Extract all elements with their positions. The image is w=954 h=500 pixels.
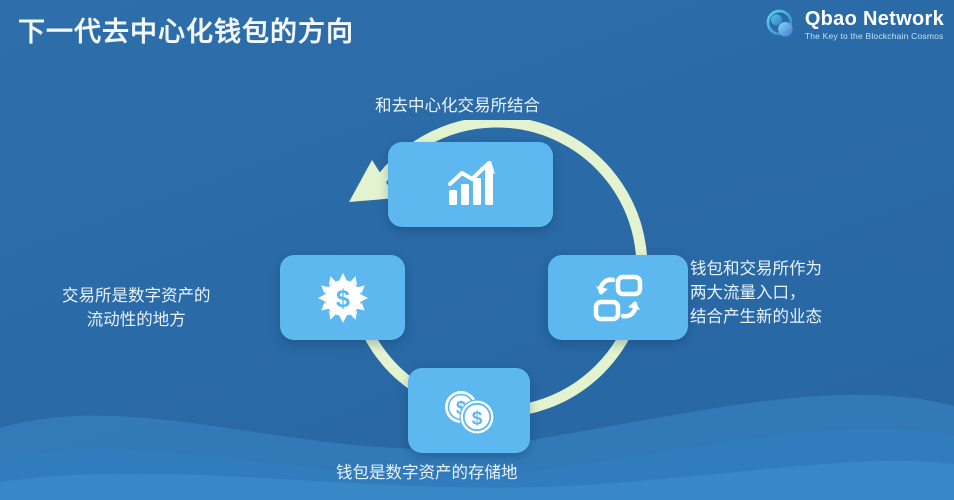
logo-name: Qbao Network: [805, 9, 944, 29]
qbao-circles-logo-icon: [765, 8, 799, 42]
svg-text:$: $: [336, 285, 350, 313]
cycle-node-left[interactable]: $: [280, 255, 405, 340]
caption-bottom: 钱包是数字资产的存储地: [336, 462, 518, 486]
exchange-swap-icon: [591, 274, 645, 322]
brand-logo: Qbao Network The Key to the Blockchain C…: [765, 8, 944, 42]
dollar-coins-icon: $ $: [441, 387, 497, 435]
slide-canvas: 下一代去中心化钱包的方向 Qbao Network The Key to the…: [0, 0, 954, 500]
page-title: 下一代去中心化钱包的方向: [18, 10, 354, 49]
cycle-node-top[interactable]: [388, 142, 553, 227]
svg-text:$: $: [472, 408, 483, 429]
caption-top: 和去中心化交易所结合: [375, 95, 540, 119]
cycle-node-right[interactable]: [548, 255, 688, 340]
logo-tagline: The Key to the Blockchain Cosmos: [805, 32, 944, 41]
bar-chart-growth-icon: [445, 160, 497, 210]
cycle-diagram: $ $: [260, 120, 700, 470]
caption-left: 交易所是数字资产的 流动性的地方: [62, 285, 211, 333]
dollar-badge-icon: $: [317, 272, 369, 324]
cycle-node-bottom[interactable]: $ $: [408, 368, 530, 453]
caption-right: 钱包和交易所作为 两大流量入口， 结合产生新的业态: [690, 258, 822, 330]
